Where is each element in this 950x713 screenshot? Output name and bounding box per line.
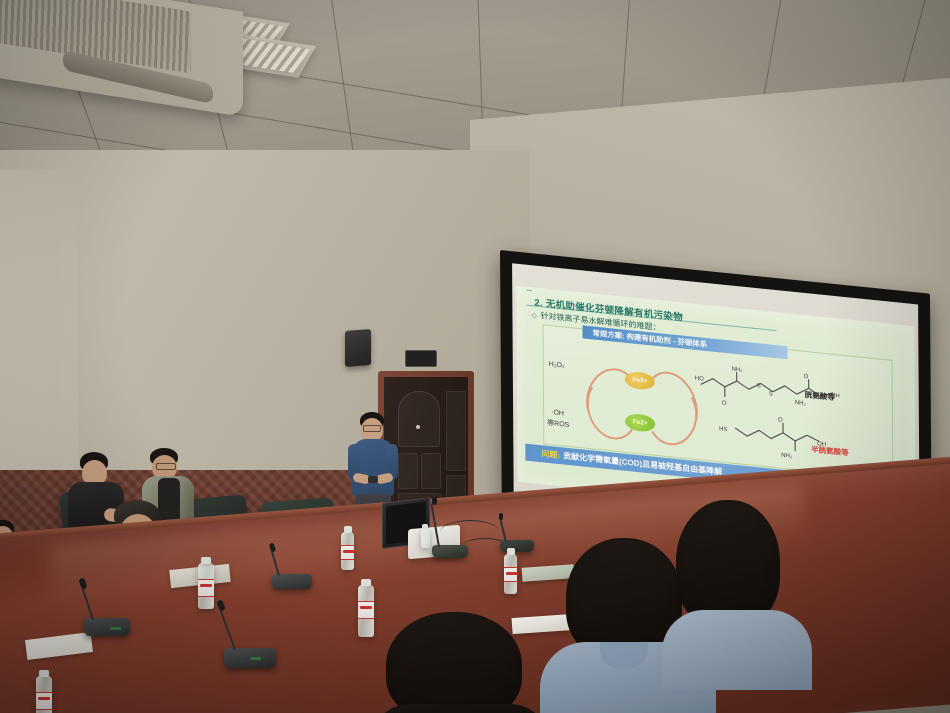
- svg-text:O: O: [722, 401, 727, 407]
- svg-text:NH₂: NH₂: [732, 367, 744, 374]
- audience-hair: [386, 612, 522, 713]
- water-bottle[interactable]: [341, 532, 354, 570]
- svg-text:NH₂: NH₂: [795, 400, 807, 407]
- svg-text:S: S: [757, 383, 761, 389]
- reagent-hydrogen-peroxide: H₂O₂: [549, 361, 565, 370]
- svg-text:O: O: [778, 417, 783, 423]
- reagent-hydroxyl-radical: ·OH: [551, 409, 564, 417]
- svg-text:O: O: [804, 374, 809, 380]
- wall-sign: [405, 350, 437, 367]
- svg-text:HO: HO: [695, 376, 704, 383]
- conference-room-photo: 2. 无机助催化芬顿降解有机污染物 ◇ 针对铁离子易水解难循环的难题： H₂O₂…: [0, 0, 950, 713]
- svg-text:S: S: [769, 391, 773, 397]
- audience-hair: [676, 500, 780, 628]
- audience-glasses: [156, 463, 176, 470]
- audience-shoulders: [662, 610, 812, 690]
- audience-shoulders: [370, 704, 550, 713]
- water-bottle[interactable]: [358, 585, 374, 637]
- wall-column: [0, 170, 78, 470]
- reagent-ros: 等ROS: [547, 418, 569, 430]
- bullet-marker-icon: ◇: [531, 311, 536, 320]
- door-knob[interactable]: [416, 425, 420, 429]
- wall-speaker: [345, 329, 371, 367]
- svg-text:NH₂: NH₂: [781, 453, 793, 460]
- svg-text:HS: HS: [719, 426, 727, 433]
- water-bottle[interactable]: [421, 528, 430, 548]
- problem-label: 问题:: [525, 447, 560, 462]
- door-arch-panel: [398, 391, 440, 447]
- water-bottle[interactable]: [36, 676, 52, 713]
- water-bottle[interactable]: [198, 563, 214, 609]
- presenter-glasses: [363, 425, 381, 432]
- water-bottle[interactable]: [504, 554, 517, 594]
- jacket-collar: [600, 642, 648, 668]
- presenter-clicker[interactable]: [368, 476, 378, 483]
